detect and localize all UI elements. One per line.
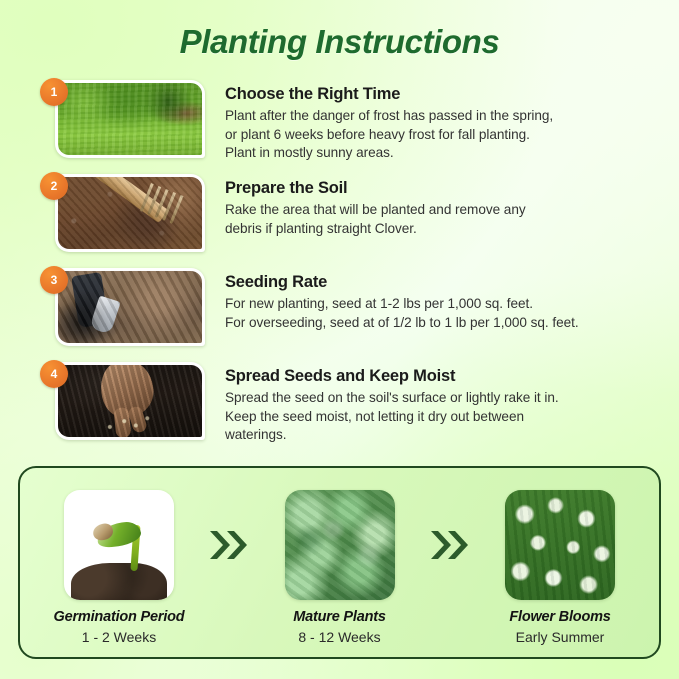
step-4-text: Spread Seeds and Keep Moist Spread the s… — [205, 360, 660, 445]
shovel-blade-shape — [89, 296, 120, 335]
timeline-stage-mature: Mature Plants 8 - 12 Weeks — [265, 490, 415, 647]
page-title: Planting Instructions — [0, 22, 679, 62]
step-2-thumbnail — [55, 174, 205, 252]
clover-blooms-illustration — [505, 490, 615, 600]
double-chevron-right-icon-2 — [422, 490, 478, 600]
step-2-title: Prepare the Soil — [225, 178, 660, 198]
step-item-3: 3 Seeding Rate For new planting, seed at… — [40, 266, 660, 348]
step-badge-2: 2 — [40, 172, 68, 200]
dark-soil-illustration — [58, 365, 202, 437]
growth-timeline-panel: Germination Period 1 - 2 Weeks Mature Pl… — [18, 466, 661, 659]
step-3-line-2: For overseeding, seed at of 1/2 lb to 1 … — [225, 314, 660, 333]
shovel-digging-soil-photo — [58, 271, 202, 343]
step-4-body: Spread the seed on the soil's surface or… — [225, 389, 660, 445]
timeline-stage-3-label: Flower Blooms — [485, 608, 635, 627]
step-2-text: Prepare the Soil Rake the area that will… — [205, 172, 660, 238]
step-1-title: Choose the Right Time — [225, 84, 660, 104]
step-3-body: For new planting, seed at 1-2 lbs per 1,… — [225, 295, 660, 332]
sunny-lawn-photo — [58, 83, 202, 155]
step-1-line-2: or plant 6 weeks before heavy frost for … — [225, 126, 660, 145]
hand-shape — [96, 365, 159, 421]
timeline-stage-germination: Germination Period 1 - 2 Weeks — [44, 490, 194, 647]
double-chevron-right-icon — [201, 490, 257, 600]
step-3-thumbnail — [55, 268, 205, 346]
step-4-thumbnail — [55, 362, 205, 440]
step-4-line-2: Keep the seed moist, not letting it dry … — [225, 408, 660, 427]
rake-on-soil-photo — [58, 177, 202, 249]
step-item-4: 4 Spread Seeds and Keep Moist Spread the… — [40, 360, 660, 445]
step-item-1: 1 Choose the Right Time Plant after the … — [40, 78, 660, 163]
clover-foliage-photo — [285, 490, 395, 600]
step-2-line-1: Rake the area that will be planted and r… — [225, 201, 660, 220]
timeline-stage-1-value: 1 - 2 Weeks — [44, 628, 194, 647]
step-item-2: 2 Prepare the Soil Rake the area that wi… — [40, 172, 660, 254]
step-1-thumbnail-wrap: 1 — [40, 78, 205, 160]
step-1-text: Choose the Right Time Plant after the da… — [205, 78, 660, 163]
tilled-soil-illustration — [58, 271, 202, 343]
step-badge-4: 4 — [40, 360, 68, 388]
step-4-line-1: Spread the seed on the soil's surface or… — [225, 389, 660, 408]
step-4-title: Spread Seeds and Keep Moist — [225, 366, 660, 386]
boot-shape — [71, 272, 109, 328]
step-badge-3: 3 — [40, 266, 68, 294]
rake-handle-shape — [94, 177, 169, 223]
timeline-stage-1-label: Germination Period — [44, 608, 194, 627]
white-clover-blooms-photo — [505, 490, 615, 600]
rake-head-shape — [140, 182, 186, 224]
step-1-line-1: Plant after the danger of frost has pass… — [225, 107, 660, 126]
step-2-line-2: debris if planting straight Clover. — [225, 220, 660, 239]
soil-mound-shape — [71, 563, 168, 600]
step-1-line-3: Plant in mostly sunny areas. — [225, 144, 660, 163]
step-3-line-1: For new planting, seed at 1-2 lbs per 1,… — [225, 295, 660, 314]
planting-instructions-infographic: Planting Instructions 1 Choose the Right… — [0, 0, 679, 679]
clover-leaves-illustration — [285, 490, 395, 600]
step-2-body: Rake the area that will be planted and r… — [225, 201, 660, 238]
step-1-thumbnail — [55, 80, 205, 158]
timeline-stage-bloom: Flower Blooms Early Summer — [485, 490, 635, 647]
step-4-thumbnail-wrap: 4 — [40, 360, 205, 442]
sprout-illustration — [64, 490, 174, 600]
step-2-thumbnail-wrap: 2 — [40, 172, 205, 254]
step-1-body: Plant after the danger of frost has pass… — [225, 107, 660, 163]
sprouting-seedling-photo — [64, 490, 174, 600]
step-4-line-3: waterings. — [225, 426, 660, 445]
lawn-illustration — [58, 83, 202, 155]
step-3-text: Seeding Rate For new planting, seed at 1… — [205, 266, 660, 332]
step-badge-1: 1 — [40, 78, 68, 106]
soil-illustration — [58, 177, 202, 249]
step-3-thumbnail-wrap: 3 — [40, 266, 205, 348]
timeline-stage-2-value: 8 - 12 Weeks — [265, 628, 415, 647]
hand-spreading-seed-photo — [58, 365, 202, 437]
timeline-stage-2-label: Mature Plants — [265, 608, 415, 627]
timeline-stage-3-value: Early Summer — [485, 628, 635, 647]
step-3-title: Seeding Rate — [225, 272, 660, 292]
